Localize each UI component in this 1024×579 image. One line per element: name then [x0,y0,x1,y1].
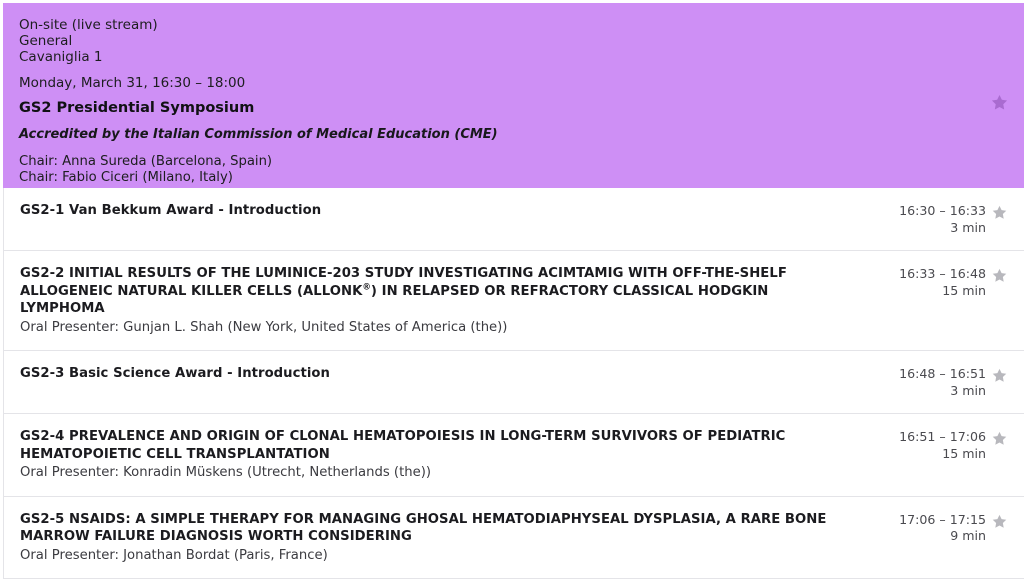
presentation-duration: 15 min [868,446,986,463]
presentation-title: GS2-2 INITIAL RESULTS OF THE LUMINICE-20… [20,265,854,318]
presentation-content: GS2-1 Van Bekkum Award - Introduction [20,202,868,220]
session-chair-1: Chair: Anna Sureda (Barcelona, Spain) [19,154,1008,171]
list-item[interactable]: GS2-3 Basic Science Award - Introduction… [4,351,1024,414]
presentation-title: GS2-3 Basic Science Award - Introduction [20,365,854,383]
presentation-content: GS2-4 PREVALENCE AND ORIGIN OF CLONAL HE… [20,428,868,482]
presentation-duration: 9 min [868,528,986,545]
session-header-banner: On-site (live stream) General Cavaniglia… [3,3,1024,188]
list-item[interactable]: GS2-4 PREVALENCE AND ORIGIN OF CLONAL HE… [4,414,1024,497]
presentation-content: GS2-5 NSAIDS: A SIMPLE THERAPY FOR MANAG… [20,511,868,565]
star-icon[interactable] [986,202,1012,221]
presentation-duration: 3 min [868,220,986,237]
session-detail-page: On-site (live stream) General Cavaniglia… [0,0,1024,501]
list-item[interactable]: GS2-5 NSAIDS: A SIMPLE THERAPY FOR MANAG… [4,497,1024,579]
presentation-presenter: Oral Presenter: Jonathan Bordat (Paris, … [20,547,854,565]
session-attendance-mode: On-site (live stream) [19,17,1008,33]
star-icon[interactable] [990,93,1009,112]
star-icon[interactable] [986,428,1012,447]
session-datetime: Monday, March 31, 16:30 – 18:00 [19,75,1008,91]
presentation-timing: 16:33 – 16:48 15 min [868,265,986,299]
list-item[interactable]: GS2-2 INITIAL RESULTS OF THE LUMINICE-20… [4,251,1024,351]
presentation-title: GS2-4 PREVALENCE AND ORIGIN OF CLONAL HE… [20,428,854,463]
registered-trademark-icon: ® [362,282,371,292]
session-meta-block: On-site (live stream) General Cavaniglia… [19,17,1008,66]
presentation-list: GS2-1 Van Bekkum Award - Introduction 16… [3,188,1024,579]
presentation-timing: 16:30 – 16:33 3 min [868,202,986,236]
presentation-time: 17:06 – 17:15 [868,512,986,529]
presentation-title: GS2-1 Van Bekkum Award - Introduction [20,202,854,220]
star-icon[interactable] [986,365,1012,384]
presentation-presenter: Oral Presenter: Gunjan L. Shah (New York… [20,319,854,337]
list-item[interactable]: GS2-1 Van Bekkum Award - Introduction 16… [4,188,1024,251]
session-track: General [19,33,1008,49]
presentation-content: GS2-3 Basic Science Award - Introduction [20,365,868,383]
presentation-time: 16:51 – 17:06 [868,429,986,446]
star-icon[interactable] [986,265,1012,284]
session-accreditation: Accredited by the Italian Commission of … [19,127,1008,143]
presentation-time: 16:30 – 16:33 [868,203,986,220]
session-chair-2: Chair: Fabio Ciceri (Milano, Italy) [19,170,1008,187]
presentation-title: GS2-5 NSAIDS: A SIMPLE THERAPY FOR MANAG… [20,511,854,546]
presentation-duration: 3 min [868,383,986,400]
page-title: GS2 Presidential Symposium [19,100,1008,117]
session-room: Cavaniglia 1 [19,49,1008,65]
presentation-timing: 17:06 – 17:15 9 min [868,511,986,545]
presentation-time: 16:33 – 16:48 [868,266,986,283]
presentation-content: GS2-2 INITIAL RESULTS OF THE LUMINICE-20… [20,265,868,336]
presentation-presenter: Oral Presenter: Konradin Müskens (Utrech… [20,464,854,482]
star-icon[interactable] [986,511,1012,530]
presentation-timing: 16:48 – 16:51 3 min [868,365,986,399]
presentation-time: 16:48 – 16:51 [868,366,986,383]
presentation-duration: 15 min [868,283,986,300]
presentation-timing: 16:51 – 17:06 15 min [868,428,986,462]
